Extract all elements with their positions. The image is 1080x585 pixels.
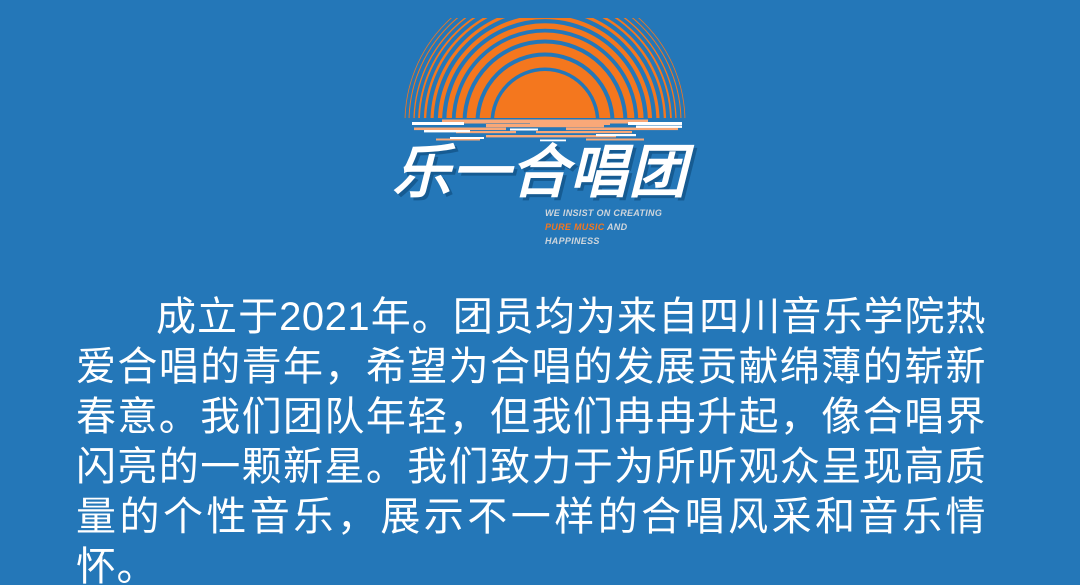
poster-canvas: 乐一合唱团 WE INSIST ON CREATING PURE MUSIC A… [0, 0, 1080, 585]
tagline-line-3: HAPPINESS [545, 234, 845, 248]
logo-tagline: WE INSIST ON CREATING PURE MUSIC AND HAP… [545, 206, 845, 248]
tagline-highlight: PURE MUSIC [545, 222, 605, 232]
sunrise-over-water-mark [390, 18, 700, 146]
tagline-line-1: WE INSIST ON CREATING [545, 206, 845, 220]
logo-block: 乐一合唱团 WE INSIST ON CREATING PURE MUSIC A… [0, 0, 1080, 270]
tagline-line-2: PURE MUSIC AND [545, 220, 845, 234]
introduction-paragraph: 成立于2021年。团员均为来自四川音乐学院热爱合唱的青年，希望为合唱的发展贡献绵… [76, 292, 986, 585]
logo-wordmark: 乐一合唱团 [0, 142, 1080, 204]
tagline-line-2-rest: AND [605, 222, 628, 232]
